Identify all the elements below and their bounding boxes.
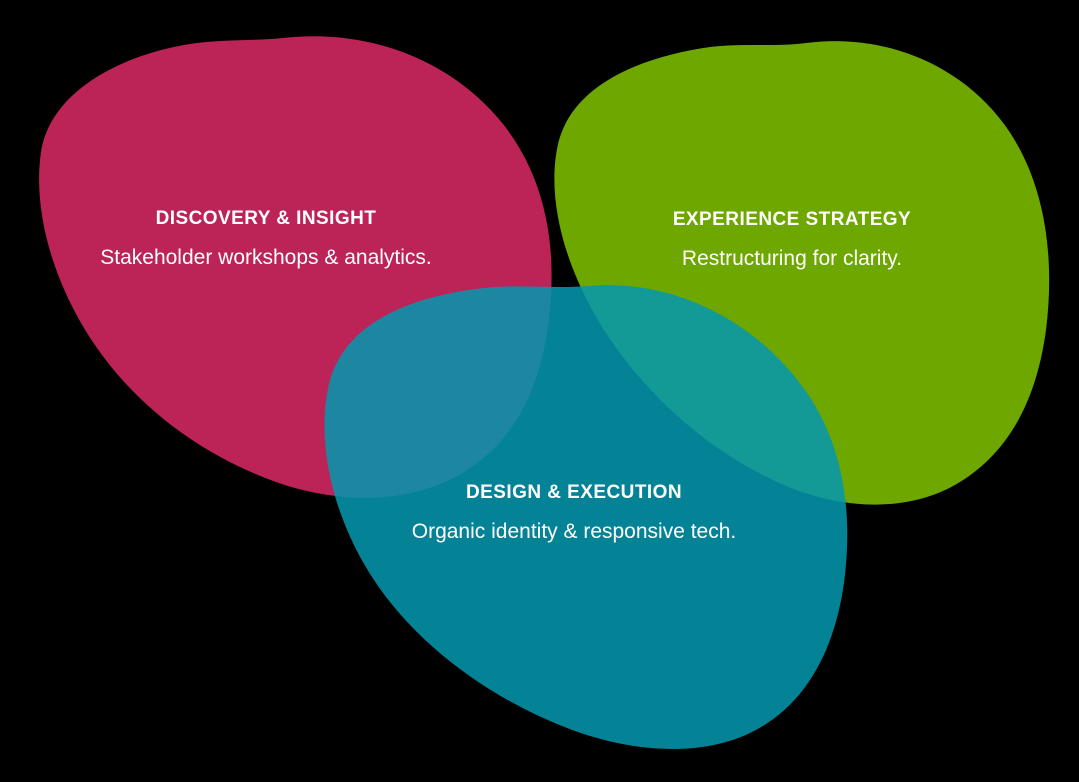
experience-label-group: EXPERIENCE STRATEGY Restructuring for cl… [627, 209, 957, 276]
discovery-title: DISCOVERY & INSIGHT [96, 208, 436, 231]
design-label-group: DESIGN & EXECUTION Organic identity & re… [409, 482, 739, 549]
design-title: DESIGN & EXECUTION [409, 482, 739, 505]
experience-body: Restructuring for clarity. [627, 241, 957, 276]
blob-artwork [0, 0, 1079, 782]
diagram-canvas: DISCOVERY & INSIGHT Stakeholder workshop… [0, 0, 1079, 782]
design-body: Organic identity & responsive tech. [409, 514, 739, 549]
experience-title: EXPERIENCE STRATEGY [627, 209, 957, 232]
discovery-body: Stakeholder workshops & analytics. [96, 240, 436, 275]
discovery-label-group: DISCOVERY & INSIGHT Stakeholder workshop… [96, 208, 436, 275]
